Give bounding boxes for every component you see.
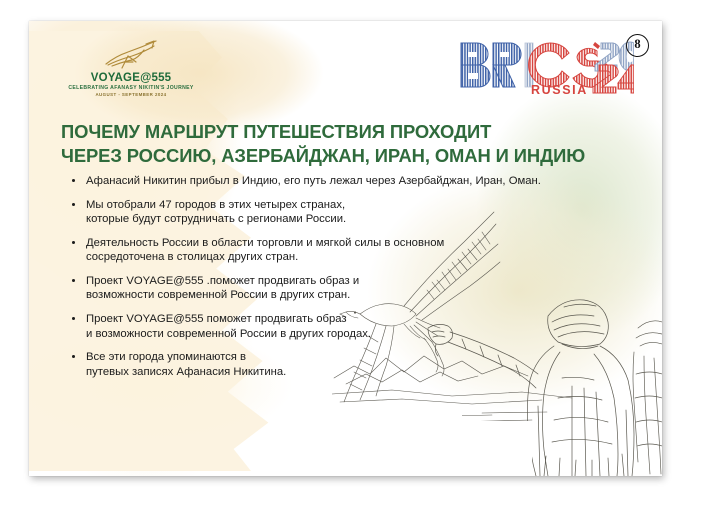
brics-letter-b — [461, 43, 490, 87]
bullet-dot-icon — [72, 203, 75, 206]
voyage-logo-title: VOYAGE@555 — [56, 72, 206, 84]
list-item: Все эти города упоминаются в путевых зап… — [69, 350, 659, 379]
flying-bird-emblem — [102, 38, 160, 70]
bullet-dot-icon — [72, 179, 75, 182]
headline-line-1: ПОЧЕМУ МАРШРУТ ПУТЕШЕСТВИЯ ПРОХОДИТ — [61, 120, 636, 144]
bullet-line: Все эти города упоминаются в — [86, 350, 659, 365]
bullet-line: и возможности современной России в други… — [86, 327, 659, 342]
list-item: Проект VOYAGE@555 .поможет продвигать об… — [69, 274, 659, 303]
voyage-logo-dates: AUGUST - SEPTEMBER 2024 — [56, 92, 206, 97]
brics-country-label: RUSSIA — [531, 83, 588, 97]
bullet-dot-icon — [72, 241, 75, 244]
list-item: Мы отобрали 47 городов в этих четырех ст… — [69, 198, 659, 227]
bullet-line: Мы отобрали 47 городов в этих четырех ст… — [86, 198, 659, 213]
bullet-line: возможности современной России в других … — [86, 288, 659, 303]
list-item: Деятельность России в области торговли и… — [69, 236, 659, 265]
slide-headline: ПОЧЕМУ МАРШРУТ ПУТЕШЕСТВИЯ ПРОХОДИТ ЧЕРЕ… — [61, 120, 636, 169]
list-item: Проект VOYAGE@555 поможет продвигать обр… — [69, 312, 659, 341]
bullet-line: Афанасий Никитин прибыл в Индию, его пут… — [86, 174, 659, 189]
bullet-line: Проект VOYAGE@555 поможет продвигать обр… — [86, 312, 659, 327]
bullet-line: Проект VOYAGE@555 .поможет продвигать об… — [86, 274, 659, 289]
bullet-list: Афанасий Никитин прибыл в Индию, его пут… — [69, 174, 659, 388]
bullet-dot-icon — [72, 355, 75, 358]
brics-event-logo: RUSSIA — [459, 37, 634, 99]
brics-letter-r — [493, 43, 521, 87]
bullet-dot-icon — [72, 317, 75, 320]
list-item: Афанасий Никитин прибыл в Индию, его пут… — [69, 174, 659, 189]
bullet-line: сосредоточена в столицах других стран. — [86, 250, 659, 265]
bullet-line: Деятельность России в области торговли и… — [86, 236, 659, 251]
voyage-brand-logo: VOYAGE@555 CELEBRATING AFANASY NIKITIN'S… — [56, 38, 206, 97]
brics-letter-c — [529, 43, 569, 87]
bullet-dot-icon — [72, 279, 75, 282]
slide-card: VOYAGE@555 CELEBRATING AFANASY NIKITIN'S… — [29, 21, 662, 476]
bullet-line: путевых записях Афанасия Никитина. — [86, 365, 659, 380]
page-number-badge: 8 — [626, 34, 649, 57]
headline-line-2: ЧЕРЕЗ РОССИЮ, АЗЕРБАЙДЖАН, ИРАН, ОМАН И … — [61, 144, 636, 168]
voyage-logo-subtitle: CELEBRATING AFANASY NIKITIN'S JOURNEY — [56, 85, 206, 91]
bullet-line: которые будут сотрудничать с регионами Р… — [86, 212, 659, 227]
